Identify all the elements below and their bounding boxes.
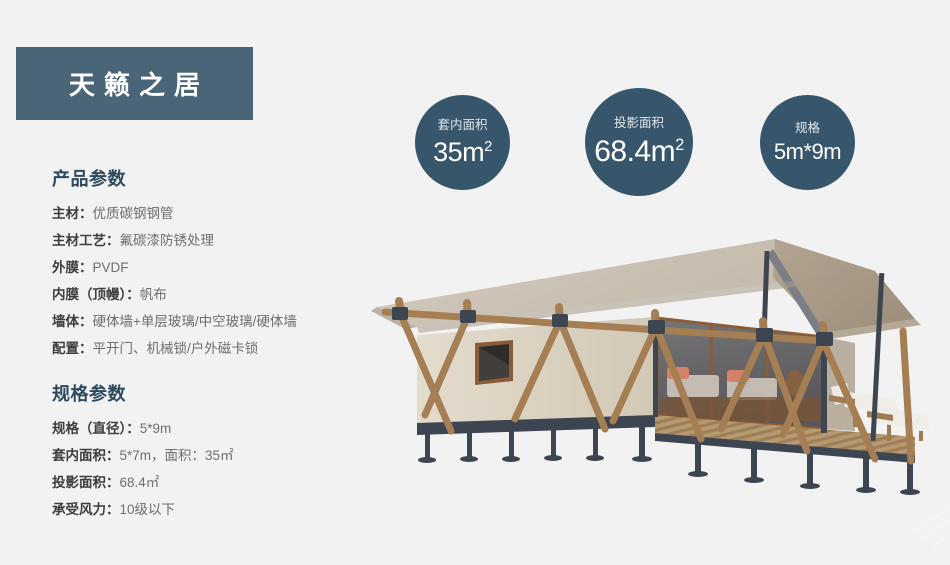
tent-house-3d-render: 雪立方 XUELIFANG	[355, 215, 950, 515]
spec-label: 墙体：	[52, 314, 93, 329]
spec-value: 5*9m	[140, 421, 172, 436]
spec-label: 内膜（顶幔）：	[52, 287, 140, 302]
stat-caption: 套内面积	[437, 119, 487, 132]
spec-row: 墙体：硬体墙+单层玻璃/中空玻璃/硬体墙	[52, 308, 382, 335]
spec-row: 外膜：PVDF	[52, 254, 382, 281]
stat-value: 35m2	[433, 139, 492, 166]
spec-value: 平开门、机械锁/户外磁卡锁	[93, 341, 259, 356]
spec-list-specification: 规格（直径）：5*9m 套内面积：5*7m，面积：35㎡ 投影面积：68.4㎡ …	[52, 415, 382, 523]
spec-value: 10级以下	[120, 502, 176, 517]
spec-value: 氟碳漆防锈处理	[120, 233, 215, 248]
spec-value: 优质碳钢钢管	[93, 206, 174, 221]
stat-value: 5m*9m	[774, 141, 841, 163]
spec-value: 68.4㎡	[120, 475, 160, 490]
spec-column: 产品参数 主材：优质碳钢钢管 主材工艺：氟碳漆防锈处理 外膜：PVDF 内膜（顶…	[52, 165, 382, 523]
spec-group-product: 产品参数 主材：优质碳钢钢管 主材工艺：氟碳漆防锈处理 外膜：PVDF 内膜（顶…	[52, 165, 382, 362]
spec-row: 套内面积：5*7m，面积：35㎡	[52, 442, 382, 469]
spec-value: 硬体墙+单层玻璃/中空玻璃/硬体墙	[93, 314, 297, 329]
page-title: 天籁之居	[60, 65, 209, 102]
spec-label: 承受风力：	[52, 502, 120, 517]
spec-value: PVDF	[93, 260, 129, 275]
spec-row: 投影面积：68.4㎡	[52, 469, 382, 496]
spec-label: 规格（直径）：	[52, 421, 140, 436]
stat-circle-interior-area: 套内面积 35m2	[415, 95, 510, 190]
title-banner: 天籁之居	[16, 47, 253, 120]
spec-value: 5*7m，面积：35㎡	[120, 448, 234, 463]
section-heading-specification: 规格参数	[52, 380, 382, 406]
spec-row: 主材：优质碳钢钢管	[52, 200, 382, 227]
spec-row: 规格（直径）：5*9m	[52, 415, 382, 442]
spec-label: 主材：	[52, 206, 93, 221]
tent-house-illustration	[355, 215, 950, 515]
window-left	[475, 340, 513, 385]
spec-row: 配置：平开门、机械锁/户外磁卡锁	[52, 335, 382, 362]
stat-value: 68.4m2	[594, 137, 684, 167]
spec-row: 内膜（顶幔）：帆布	[52, 281, 382, 308]
spec-label: 主材工艺：	[52, 233, 120, 248]
stat-caption: 投影面积	[614, 117, 664, 130]
spec-label: 投影面积：	[52, 475, 120, 490]
spec-value: 帆布	[140, 287, 167, 302]
spec-list-product: 主材：优质碳钢钢管 主材工艺：氟碳漆防锈处理 外膜：PVDF 内膜（顶幔）：帆布…	[52, 200, 382, 362]
stat-caption: 规格	[795, 122, 820, 135]
spec-row: 承受风力：10级以下	[52, 496, 382, 523]
spec-group-specification: 规格参数 规格（直径）：5*9m 套内面积：5*7m，面积：35㎡ 投影面积：6…	[52, 380, 382, 523]
spec-label: 外膜：	[52, 260, 93, 275]
spec-label: 套内面积：	[52, 448, 120, 463]
stat-circle-dimensions: 规格 5m*9m	[760, 95, 855, 190]
section-heading-product: 产品参数	[52, 165, 382, 191]
spec-row: 主材工艺：氟碳漆防锈处理	[52, 227, 382, 254]
stat-circle-projected-area: 投影面积 68.4m2	[585, 88, 693, 196]
spec-label: 配置：	[52, 341, 93, 356]
